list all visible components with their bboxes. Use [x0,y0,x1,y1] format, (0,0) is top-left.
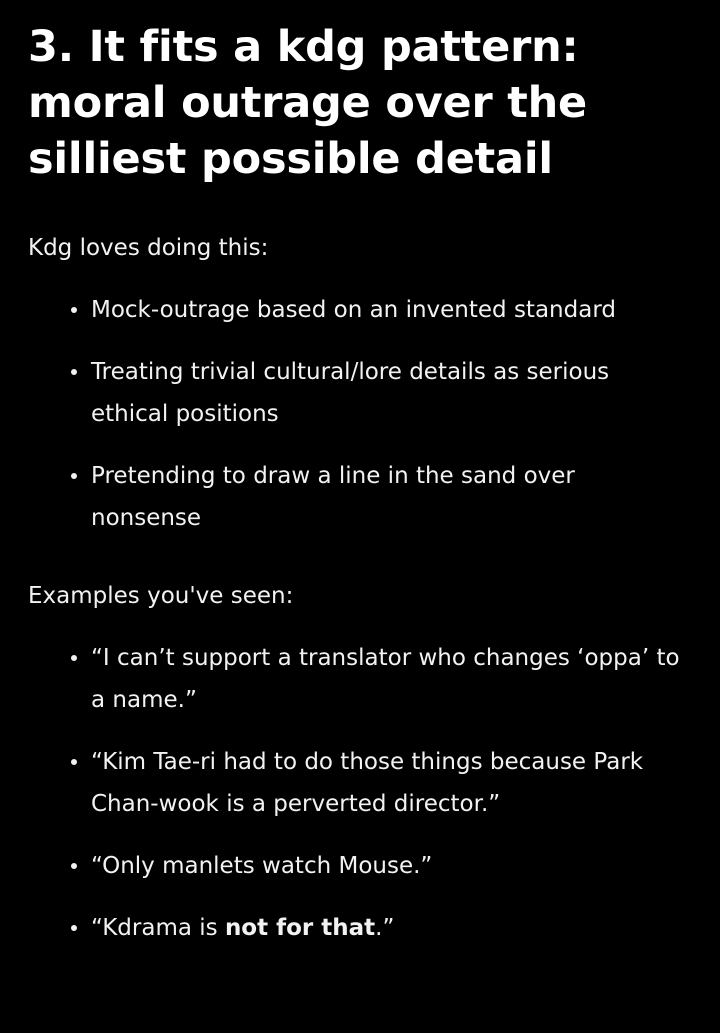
list-item: “Kdrama is not for that.” [28,907,690,949]
bullet-list-patterns: Mock-outrage based on an invented standa… [28,265,690,539]
bullet-dot-icon [71,759,77,765]
list-item-label: “Kdrama is not for that.” [91,907,690,949]
list-item: “I can’t support a translator who change… [28,637,690,721]
list-item: Mock-outrage based on an invented standa… [28,289,690,331]
section-lead-1: Kdg loves doing this: [28,187,690,265]
list-item-label: “I can’t support a translator who change… [91,637,690,721]
bullet-list-examples: “I can’t support a translator who change… [28,613,690,949]
bullet-dot-icon [71,863,77,869]
list-item: “Only manlets watch Mouse.” [28,845,690,887]
section-lead-2: Examples you've seen: [28,539,690,613]
bullet-dot-icon [71,473,77,479]
page-title: 3. It fits a kdg pattern: moral outrage … [28,0,628,187]
list-item-label: Pretending to draw a line in the sand ov… [91,455,690,539]
list-item: “Kim Tae-ri had to do those things becau… [28,741,690,825]
list-item-label: “Only manlets watch Mouse.” [91,845,690,887]
list-item-label: Treating trivial cultural/lore details a… [91,351,690,435]
document-page: 3. It fits a kdg pattern: moral outrage … [0,0,720,1033]
list-item-label: Mock-outrage based on an invented standa… [91,289,690,331]
bullet-dot-icon [71,925,77,931]
list-item: Treating trivial cultural/lore details a… [28,351,690,435]
list-item: Pretending to draw a line in the sand ov… [28,455,690,539]
bullet-dot-icon [71,655,77,661]
bullet-dot-icon [71,307,77,313]
bullet-dot-icon [71,369,77,375]
list-item-label: “Kim Tae-ri had to do those things becau… [91,741,690,825]
